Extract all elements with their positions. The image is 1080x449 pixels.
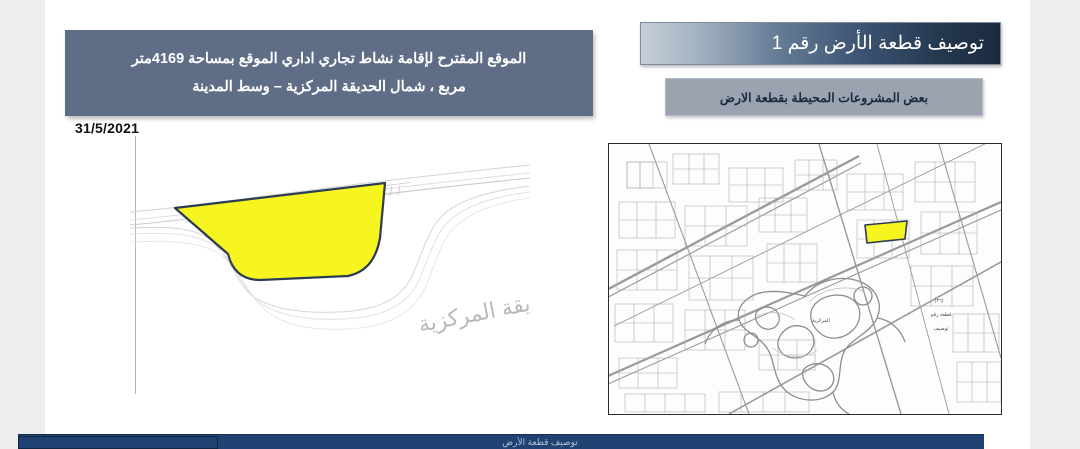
map-annotation-plot-number: (٣٦): [935, 298, 944, 304]
surrounding-projects-map: المركزية (٣٦) قطعة رقم توصيف: [608, 143, 1002, 415]
slide-screen: الموقع المقترح لإقامة نشاط تجاري اداري ا…: [0, 0, 1080, 449]
map-annotation-desc: توصيف: [934, 326, 950, 332]
slide-page: الموقع المقترح لإقامة نشاط تجاري اداري ا…: [45, 0, 1030, 449]
parcel-title-banner: توصيف قطعة الأرض رقم 1: [640, 22, 1001, 65]
map-annotation-park: المركزية: [812, 318, 830, 324]
parcel-title-text: توصيف قطعة الأرض رقم 1: [772, 32, 984, 55]
date-label: 31/5/2021: [75, 120, 139, 136]
svg-text:الحديقة المركزية: الحديقة المركزية: [416, 283, 530, 338]
site-plan-drawing: الحديقة المركزية: [130, 150, 530, 400]
site-description-header: الموقع المقترح لإقامة نشاط تجاري اداري ا…: [65, 30, 593, 116]
site-description-text: الموقع المقترح لإقامة نشاط تجاري اداري ا…: [132, 45, 527, 102]
bottom-bar-caption: توصيف قطعة الأرض: [430, 437, 650, 449]
surrounding-projects-subtitle-text: بعض المشروعات المحيطة بقطعة الارض: [720, 90, 928, 105]
surrounding-projects-subtitle: بعض المشروعات المحيطة بقطعة الارض: [665, 78, 983, 116]
bottom-navy-bar-inner-panel: [18, 436, 218, 449]
map-annotation-plot-label: قطعة رقم: [930, 312, 952, 318]
